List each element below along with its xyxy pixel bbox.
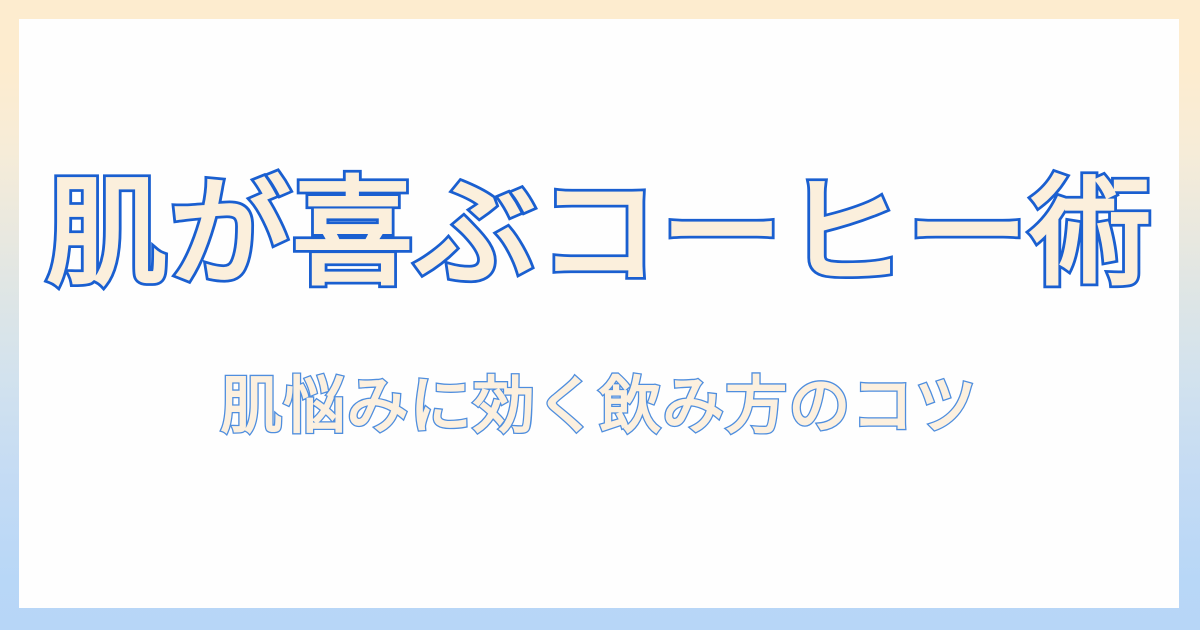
content-panel: 肌が喜ぶコーヒー術 肌悩みに効く飲み方のコツ <box>19 19 1179 608</box>
subheadline-container: 肌悩みに効く飲み方のコツ <box>19 367 1179 447</box>
headline-container: 肌が喜ぶコーヒー術 <box>19 159 1179 309</box>
header-card: 肌が喜ぶコーヒー術 肌悩みに効く飲み方のコツ <box>0 0 1200 630</box>
page-subtitle: 肌悩みに効く飲み方のコツ <box>220 372 977 440</box>
page-title: 肌が喜ぶコーヒー術 <box>46 170 1153 297</box>
text-stack: 肌が喜ぶコーヒー術 肌悩みに効く飲み方のコツ <box>19 159 1179 447</box>
